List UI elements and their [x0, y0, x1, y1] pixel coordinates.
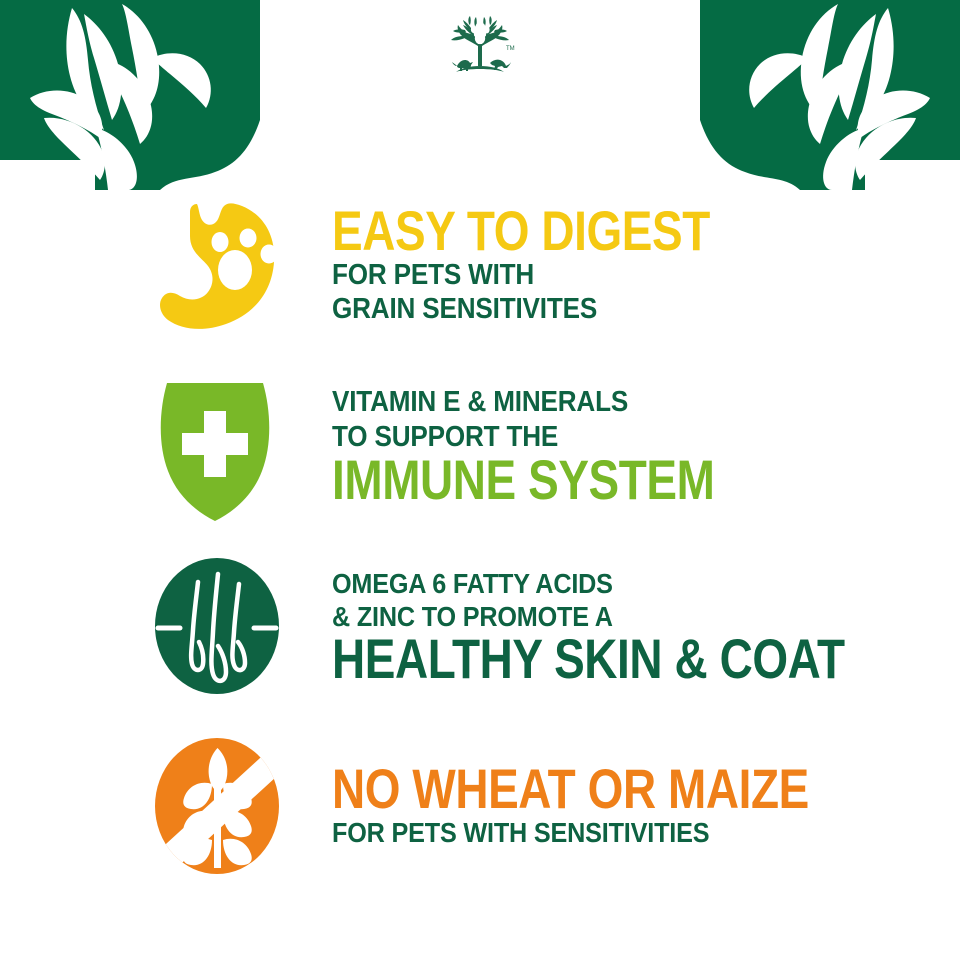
shield-with-cross-icon	[150, 371, 320, 521]
feature-headline: IMMUNE SYSTEM	[332, 454, 814, 507]
feature-subline-1: FOR PETS WITH SENSITIVITIES	[332, 816, 861, 849]
feature-subline-1: VITAMIN E & MINERALS	[332, 385, 861, 419]
no-wheat-stalk-icon	[150, 731, 320, 881]
leaf-foliage-corner-right	[700, 0, 960, 190]
feature-headline: EASY TO DIGEST	[332, 205, 814, 258]
infographic-page: TM EASY TO DIGEST FOR PETS WITH	[0, 0, 960, 960]
feature-row-immune-system: VITAMIN E & MINERALS TO SUPPORT THE IMMU…	[150, 356, 920, 536]
feature-row-healthy-skin-coat: OMEGA 6 FATTY ACIDS & ZINC TO PROMOTE A …	[150, 536, 920, 716]
leaf-foliage-corner-left	[0, 0, 260, 190]
feature-text-no-wheat-or-maize: NO WHEAT OR MAIZE FOR PETS WITH SENSITIV…	[320, 763, 920, 849]
feature-text-immune-system: VITAMIN E & MINERALS TO SUPPORT THE IMMU…	[320, 385, 920, 506]
stomach-with-paw-icon	[150, 191, 320, 341]
feature-headline: NO WHEAT OR MAIZE	[332, 763, 814, 816]
feature-subline-1: OMEGA 6 FATTY ACIDS	[332, 567, 895, 600]
feature-row-no-wheat-or-maize: NO WHEAT OR MAIZE FOR PETS WITH SENSITIV…	[150, 716, 920, 896]
hair-follicles-skin-icon	[150, 551, 320, 701]
feature-list: EASY TO DIGEST FOR PETS WITH GRAIN SENSI…	[0, 176, 960, 896]
feature-text-healthy-skin-coat: OMEGA 6 FATTY ACIDS & ZINC TO PROMOTE A …	[320, 567, 957, 686]
feature-subline-1: FOR PETS WITH	[332, 258, 861, 292]
tree-with-paw-and-dogs-logo: TM	[444, 16, 516, 80]
feature-subline-2: GRAIN SENSITIVITES	[332, 292, 861, 326]
feature-headline: HEALTHY SKIN & COAT	[332, 633, 845, 686]
feature-text-easy-to-digest: EASY TO DIGEST FOR PETS WITH GRAIN SENSI…	[320, 205, 920, 326]
feature-row-easy-to-digest: EASY TO DIGEST FOR PETS WITH GRAIN SENSI…	[150, 176, 920, 356]
trademark-symbol: TM	[506, 46, 515, 52]
